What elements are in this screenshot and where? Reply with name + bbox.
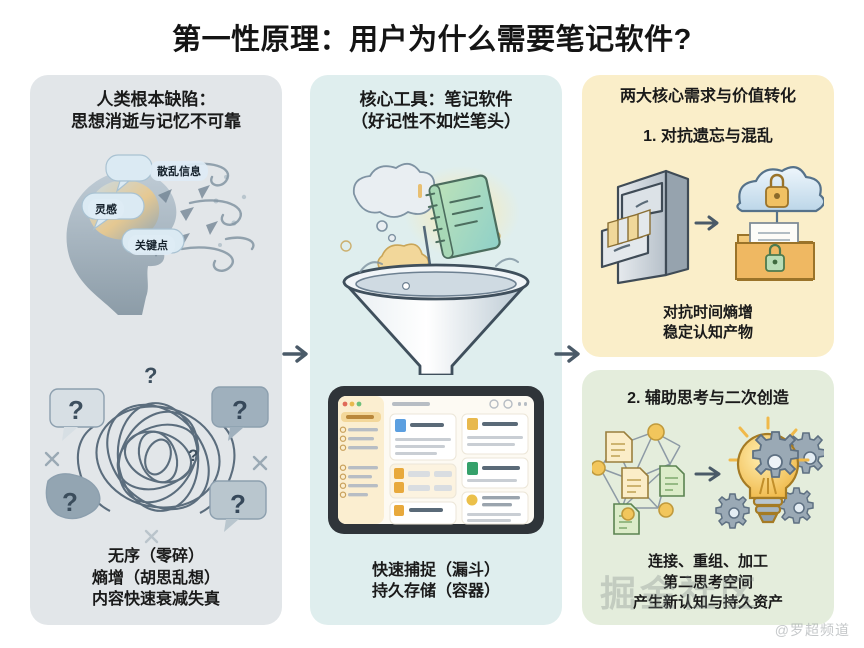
heading-line-2: （好记性不如烂笔头）	[310, 111, 562, 133]
page-title: 第一性原理：用户为什么需要笔记软件?	[0, 16, 864, 58]
funnel-svg	[320, 160, 552, 375]
brain-dissipation-illustration: 散乱信息 灵感 关键点	[30, 137, 282, 317]
panel-value-thinking-aid: 2. 辅助思考与二次创造	[582, 370, 834, 625]
foot-line-2: 持久存储（容器）	[310, 581, 562, 603]
value-1-footer: 对抗时间熵增 稳定认知产物	[582, 303, 834, 344]
tag-scattered-info: 散乱信息	[150, 161, 208, 181]
foot-line-1: 快速捕捉（漏斗）	[310, 560, 562, 582]
panel-human-flaw-heading: 人类根本缺陷： 思想消逝与记忆不可靠	[30, 89, 282, 133]
network-bulb-svg	[592, 412, 824, 544]
svg-text:?: ?	[232, 395, 248, 425]
value-2-footer: 连接、重组、加工 第二思考空间 产生新认知与持久资产	[582, 552, 834, 613]
svg-text:?: ?	[62, 487, 78, 517]
tablet-svg	[324, 380, 548, 540]
foot-line-1: 连接、重组、加工	[582, 552, 834, 572]
svg-text:?: ?	[68, 395, 84, 425]
foot-line-1: 对抗时间熵增	[582, 303, 834, 323]
funnel-capture-illustration	[320, 160, 552, 375]
value-1-subheading: 1. 对抗遗忘与混乱	[582, 122, 834, 146]
panel-value-anti-forgetting: 两大核心需求与价值转化 1. 对抗遗忘与混乱	[582, 75, 834, 357]
heading-line-2: 思想消逝与记忆不可靠	[30, 111, 282, 133]
arrow-right-icon	[282, 340, 310, 368]
flow-arrow-1	[282, 340, 310, 368]
flow-arrow-2	[554, 340, 582, 368]
watermark-channel: @罗超频道	[775, 620, 850, 640]
panel-core-tool: 核心工具：笔记软件 （好记性不如烂笔头）	[310, 75, 562, 625]
cabinet-to-cloud-illustration	[592, 157, 824, 285]
panel-human-flaw-footer: 无序（零碎） 熵增（胡思乱想） 内容快速衰减失真	[30, 546, 282, 611]
foot-line-3: 内容快速衰减失真	[30, 589, 282, 611]
cabinet-cloud-svg	[592, 157, 824, 285]
heading-line-1: 人类根本缺陷：	[30, 89, 282, 111]
network-to-idea-illustration	[592, 412, 824, 544]
svg-text:?: ?	[144, 365, 157, 388]
svg-text:?: ?	[230, 489, 246, 519]
panel-human-flaw: 人类根本缺陷： 思想消逝与记忆不可靠	[30, 75, 282, 625]
foot-line-2: 熵增（胡思乱想）	[30, 568, 282, 590]
infographic-canvas: 第一性原理：用户为什么需要笔记软件? 人类根本缺陷： 思想消逝与记忆不可靠	[0, 0, 864, 648]
foot-line-2: 第二思考空间	[582, 573, 834, 593]
arrow-right-icon	[554, 340, 582, 368]
heading-line-1: 核心工具：笔记软件	[310, 89, 562, 111]
svg-text:?: ?	[188, 446, 198, 465]
value-2-subheading: 2. 辅助思考与二次创造	[582, 384, 834, 408]
panel-values-heading: 两大核心需求与价值转化	[582, 87, 834, 108]
tangled-thoughts-illustration: ? ? ? ? ? ?	[34, 365, 282, 545]
tablet-notes-app-illustration	[324, 380, 548, 540]
foot-line-2: 稳定认知产物	[582, 323, 834, 343]
tag-key-point: 关键点	[128, 235, 175, 255]
foot-line-1: 无序（零碎）	[30, 546, 282, 568]
tag-inspiration: 灵感	[88, 199, 124, 219]
panel-core-tool-footer: 快速捕捉（漏斗） 持久存储（容器）	[310, 560, 562, 603]
foot-line-3: 产生新认知与持久资产	[582, 593, 834, 613]
panel-core-tool-heading: 核心工具：笔记软件 （好记性不如烂笔头）	[310, 89, 562, 133]
tangle-svg: ? ? ? ? ? ?	[34, 365, 282, 545]
